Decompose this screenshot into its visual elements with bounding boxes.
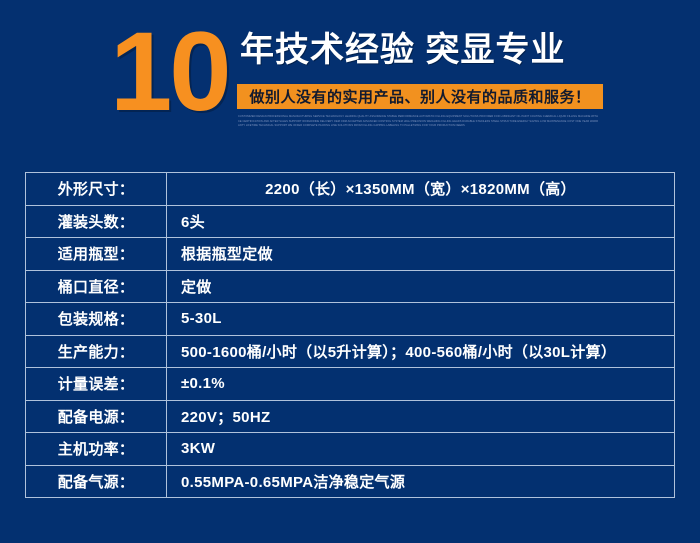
table-row: 配备气源：0.55MPA-0.65MPA洁净稳定气源 xyxy=(26,465,675,498)
spec-label-cell: 生产能力： xyxy=(26,335,167,368)
table-row: 计量误差：±0.1% xyxy=(26,368,675,401)
spec-label-cell: 灌装头数： xyxy=(26,205,167,238)
spec-value-cell: 220V；50HZ xyxy=(167,400,675,433)
spec-label-cell: 包装规格： xyxy=(26,303,167,336)
years-number: 10 xyxy=(110,16,229,128)
spec-value-cell: 3KW xyxy=(167,433,675,466)
promo-header: 10 年技术经验 突显专业 做别人没有的实用产品、别人没有的品质和服务！ CUS… xyxy=(0,0,700,150)
spec-value-cell: 定做 xyxy=(167,270,675,303)
spec-table-body: 外形尺寸：2200（长）×1350MM（宽）×1820MM（高）灌装头数：6头适… xyxy=(26,173,675,498)
table-row: 桶口直径：定做 xyxy=(26,270,675,303)
header-content: 10 年技术经验 突显专业 做别人没有的实用产品、别人没有的品质和服务！ CUS… xyxy=(110,18,630,143)
spec-label-cell: 配备电源： xyxy=(26,400,167,433)
spec-label-cell: 外形尺寸： xyxy=(26,173,167,206)
header-microcopy-text: CUSTOMIZED DESIGN PROFESSIONAL MANUFACTU… xyxy=(238,115,598,129)
spec-value-cell: 6头 xyxy=(167,205,675,238)
header-microcopy: CUSTOMIZED DESIGN PROFESSIONAL MANUFACTU… xyxy=(238,115,598,137)
spec-label-cell: 计量误差： xyxy=(26,368,167,401)
header-slogan-bar: 做别人没有的实用产品、别人没有的品质和服务！ xyxy=(237,84,603,109)
spec-value-cell: 2200（长）×1350MM（宽）×1820MM（高） xyxy=(167,173,675,206)
table-row: 包装规格：5-30L xyxy=(26,303,675,336)
table-row: 配备电源：220V；50HZ xyxy=(26,400,675,433)
spec-value-cell: ±0.1% xyxy=(167,368,675,401)
spec-value-cell: 0.55MPA-0.65MPA洁净稳定气源 xyxy=(167,465,675,498)
header-slogan-text: 做别人没有的实用产品、别人没有的品质和服务！ xyxy=(249,86,590,107)
table-row: 主机功率：3KW xyxy=(26,433,675,466)
spec-label-cell: 桶口直径： xyxy=(26,270,167,303)
table-row: 适用瓶型：根据瓶型定做 xyxy=(26,238,675,271)
spec-label-cell: 主机功率： xyxy=(26,433,167,466)
table-row: 生产能力：500-1600桶/小时（以5升计算）；400-560桶/小时（以30… xyxy=(26,335,675,368)
spec-value-cell: 500-1600桶/小时（以5升计算）；400-560桶/小时（以30L计算） xyxy=(167,335,675,368)
spec-label-cell: 配备气源： xyxy=(26,465,167,498)
spec-value-cell: 根据瓶型定做 xyxy=(167,238,675,271)
spec-label-cell: 适用瓶型： xyxy=(26,238,167,271)
table-row: 灌装头数：6头 xyxy=(26,205,675,238)
header-headline: 年技术经验 突显专业 xyxy=(240,30,565,70)
spec-value-cell: 5-30L xyxy=(167,303,675,336)
table-row: 外形尺寸：2200（长）×1350MM（宽）×1820MM（高） xyxy=(26,173,675,206)
specification-table: 外形尺寸：2200（长）×1350MM（宽）×1820MM（高）灌装头数：6头适… xyxy=(25,172,675,498)
